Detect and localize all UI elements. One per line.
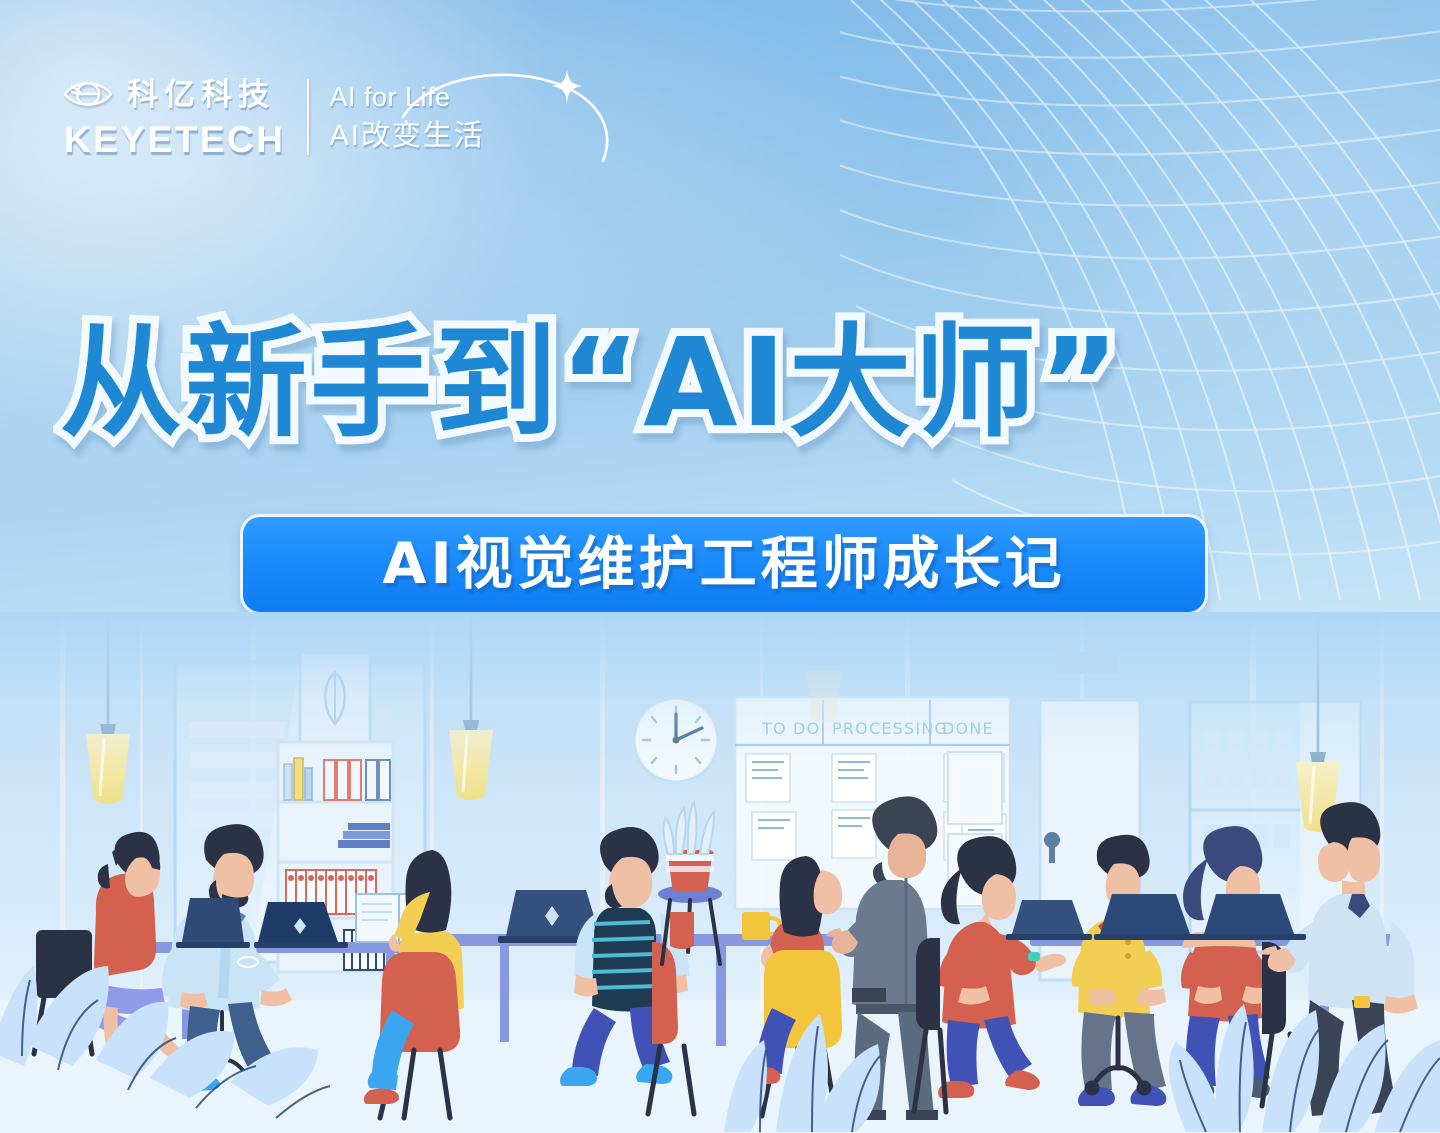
framed-picture xyxy=(300,652,370,742)
tagline-chinese: AI改变生活 xyxy=(329,121,484,151)
brand-name-en: KEYETECH xyxy=(64,121,285,158)
logo-vertical-divider xyxy=(307,79,309,155)
brand-tagline-block: AI for Life AI改变生活 xyxy=(329,83,554,152)
brand-logo-top-row: 科亿科技 xyxy=(62,76,275,112)
office-illustration: TO DO PROCESSING DONE xyxy=(0,612,1440,1133)
headline-title: 从新手到“AI大师” xyxy=(60,322,1390,444)
brand-name-cn: 科亿科技 xyxy=(127,79,275,110)
subtitle-text: AI视觉维护工程师成长记 xyxy=(382,536,1065,593)
wall-clock xyxy=(634,698,718,782)
kanban-col-todo: TO DO xyxy=(761,719,820,738)
brand-logo-block: 科亿科技 KEYETECH AI for Life AI改变生活 xyxy=(62,76,555,158)
subtitle-banner: AI视觉维护工程师成长记 xyxy=(240,514,1208,615)
kanban-col-done: DONE xyxy=(942,719,994,738)
poster-canvas: 科亿科技 KEYETECH AI for Life AI改变生活 从新手到“AI… xyxy=(0,0,1440,1133)
tagline-english: AI for Life xyxy=(329,83,484,111)
eye-logo-icon xyxy=(62,76,114,112)
brand-logo-left: 科亿科技 KEYETECH xyxy=(62,76,285,158)
